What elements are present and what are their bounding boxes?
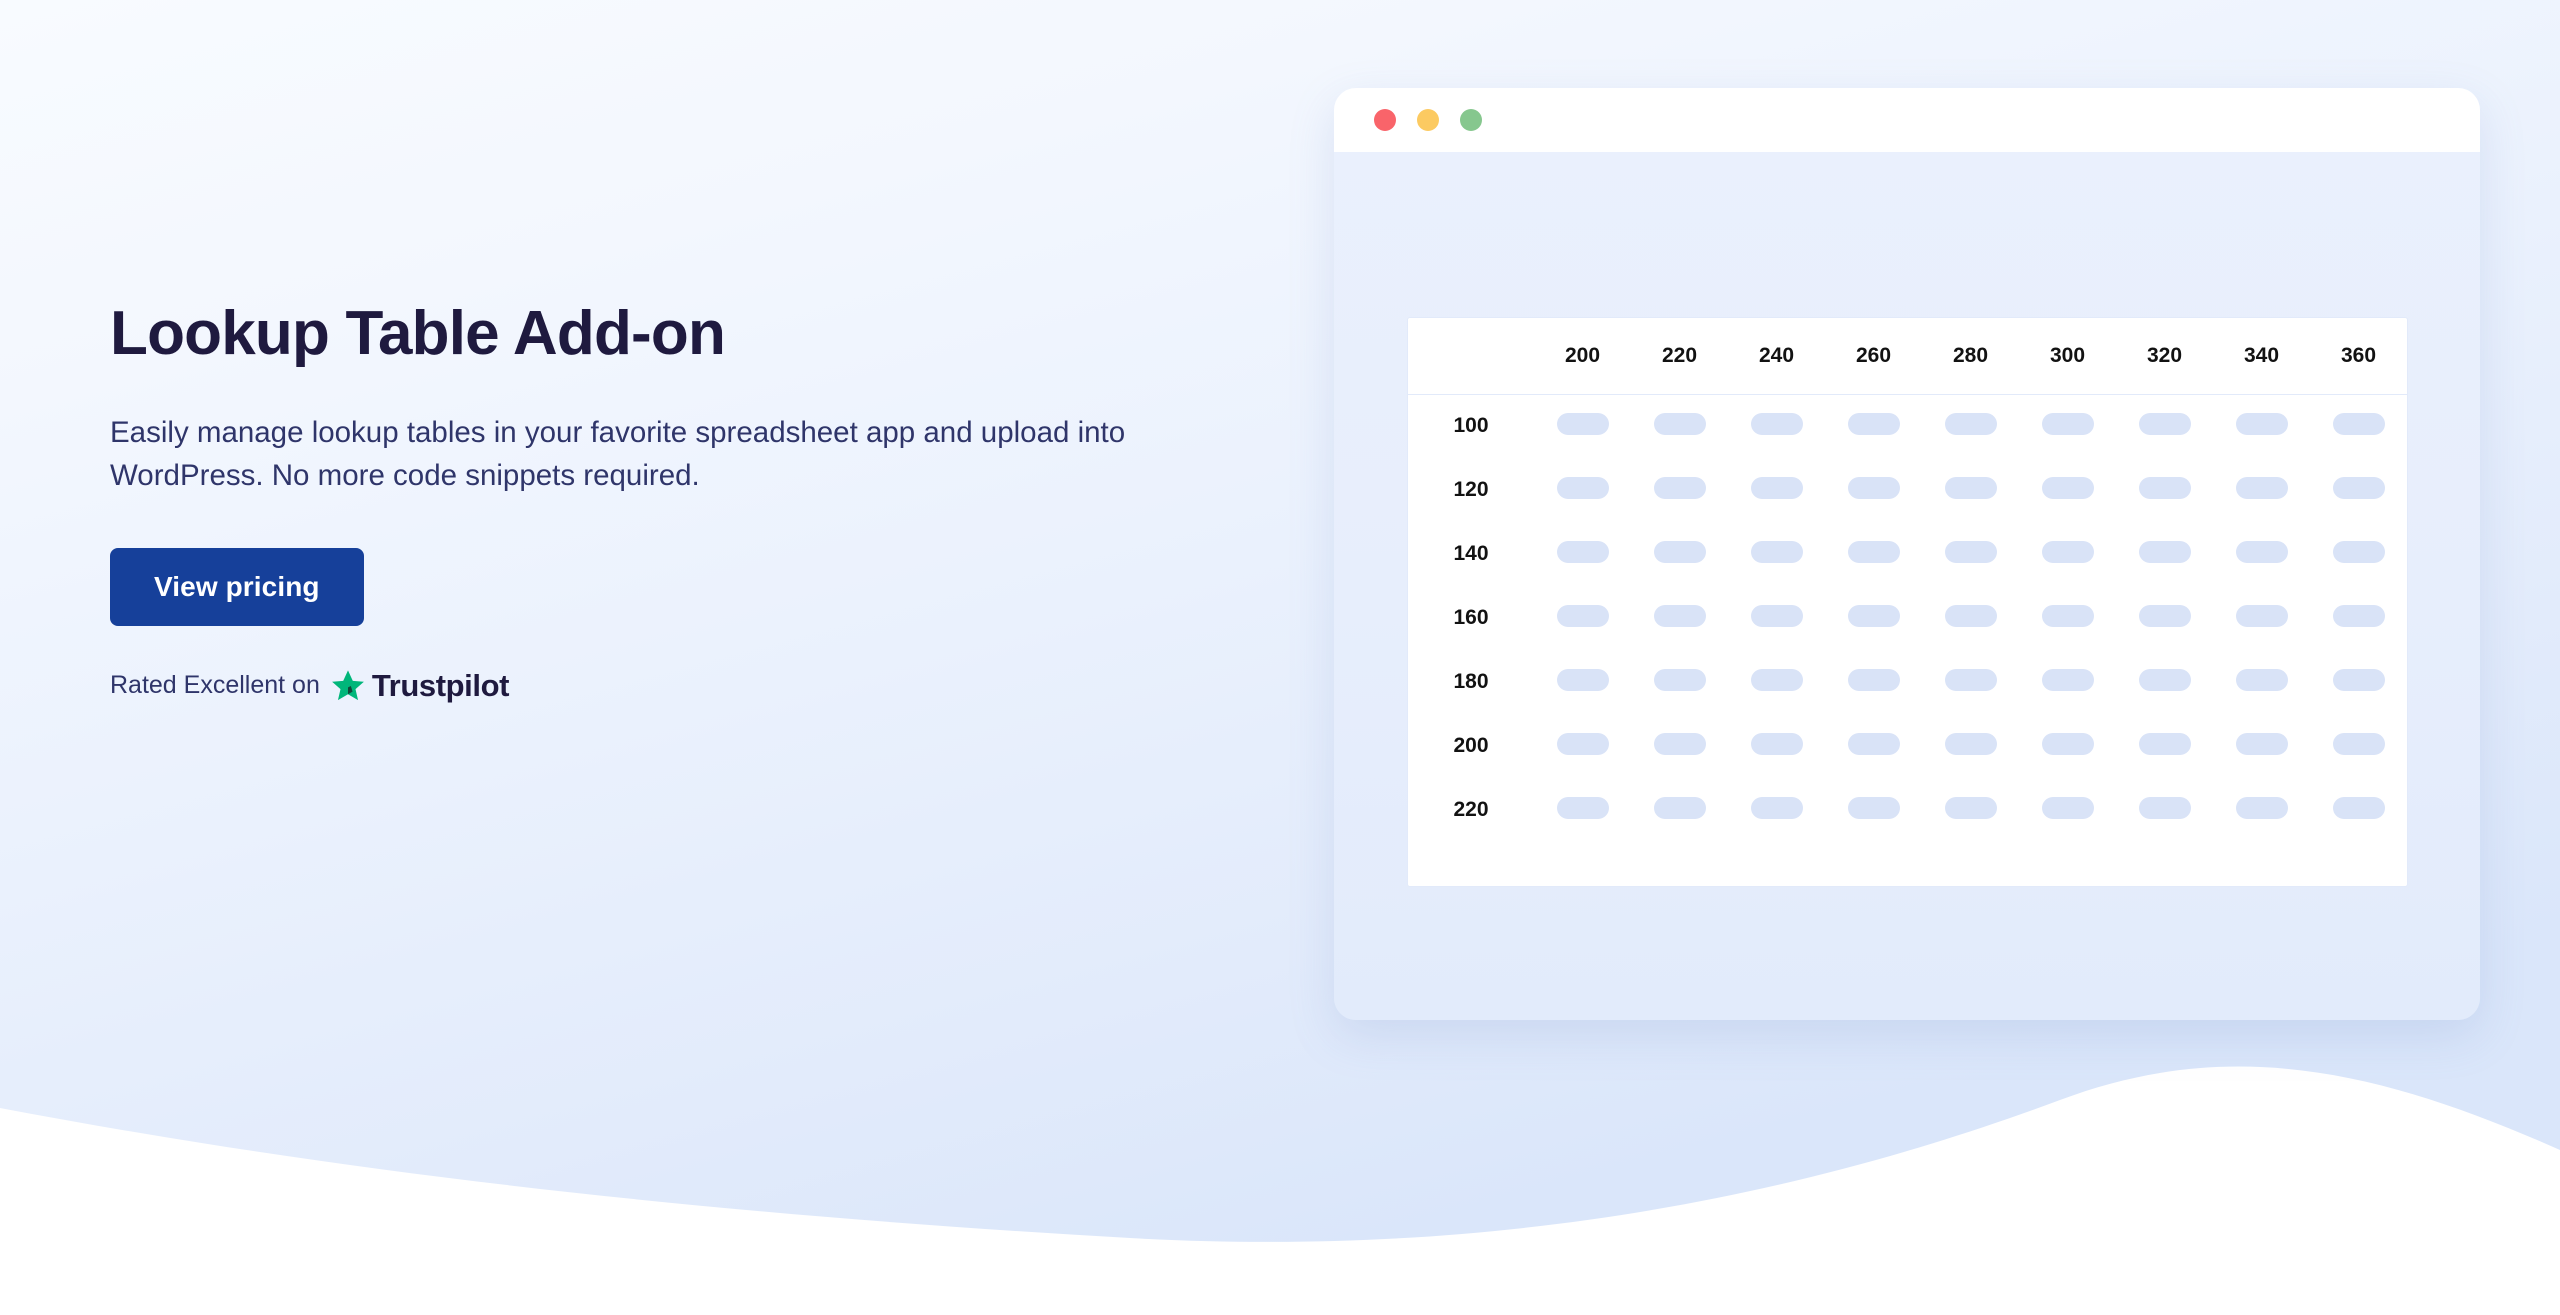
lookup-table-head: 200220240260280300320340360 [1408,318,2407,394]
cell-placeholder-pill [1557,797,1609,819]
table-cell[interactable] [1631,458,1728,522]
table-cell[interactable] [2213,586,2310,650]
cell-placeholder-pill [2139,733,2191,755]
table-cell[interactable] [1631,650,1728,714]
table-cell[interactable] [2116,394,2213,458]
cell-placeholder-pill [1848,669,1900,691]
table-column-header[interactable]: 280 [1922,318,2019,394]
cell-placeholder-pill [2042,669,2094,691]
table-row-header[interactable]: 200 [1408,714,1534,778]
table-cell[interactable] [1825,458,1922,522]
table-cell[interactable] [2310,522,2407,586]
table-column-header[interactable]: 360 [2310,318,2407,394]
view-pricing-button[interactable]: View pricing [110,548,364,626]
table-cell[interactable] [2019,458,2116,522]
cell-placeholder-pill [2042,413,2094,435]
cell-placeholder-pill [1654,477,1706,499]
table-cell[interactable] [2019,714,2116,778]
table-cell[interactable] [2213,714,2310,778]
cell-placeholder-pill [1557,477,1609,499]
table-cell[interactable] [2116,650,2213,714]
table-cell[interactable] [2310,394,2407,458]
table-row-header[interactable]: 100 [1408,394,1534,458]
table-column-header[interactable]: 240 [1728,318,1825,394]
table-row: 200 [1408,714,2407,778]
cell-placeholder-pill [2333,541,2385,563]
cell-placeholder-pill [1557,541,1609,563]
cell-placeholder-pill [2333,413,2385,435]
table-cell[interactable] [1534,586,1631,650]
table-cell[interactable] [2310,586,2407,650]
table-row: 180 [1408,650,2407,714]
table-cell[interactable] [1631,394,1728,458]
table-cell[interactable] [2310,778,2407,842]
cell-placeholder-pill [1654,733,1706,755]
cell-placeholder-pill [2333,605,2385,627]
table-column-header[interactable]: 260 [1825,318,1922,394]
table-cell[interactable] [1631,586,1728,650]
cell-placeholder-pill [1751,669,1803,691]
table-cell[interactable] [1534,458,1631,522]
lookup-table: 200220240260280300320340360 100120140160… [1408,318,2407,842]
table-cell[interactable] [1728,650,1825,714]
table-cell[interactable] [2019,522,2116,586]
table-row: 100 [1408,394,2407,458]
table-cell[interactable] [2310,458,2407,522]
table-row: 120 [1408,458,2407,522]
cell-placeholder-pill [1945,797,1997,819]
cell-placeholder-pill [2042,733,2094,755]
cell-placeholder-pill [1751,477,1803,499]
hero-subtitle: Easily manage lookup tables in your favo… [110,412,1210,498]
table-cell[interactable] [1922,586,2019,650]
cell-placeholder-pill [1945,541,1997,563]
cell-placeholder-pill [2139,477,2191,499]
cell-placeholder-pill [2139,413,2191,435]
cell-placeholder-pill [2236,669,2288,691]
cell-placeholder-pill [2139,541,2191,563]
cell-placeholder-pill [2236,477,2288,499]
table-cell[interactable] [2213,778,2310,842]
cell-placeholder-pill [1848,797,1900,819]
cell-placeholder-pill [2333,669,2385,691]
table-cell[interactable] [1825,778,1922,842]
table-cell[interactable] [1825,394,1922,458]
table-cell[interactable] [1922,458,2019,522]
cell-placeholder-pill [1654,413,1706,435]
cell-placeholder-pill [2042,477,2094,499]
table-row-header[interactable]: 140 [1408,522,1534,586]
table-cell[interactable] [2310,714,2407,778]
table-row: 160 [1408,586,2407,650]
cell-placeholder-pill [2139,797,2191,819]
table-cell[interactable] [2310,650,2407,714]
table-cell[interactable] [1728,458,1825,522]
cell-placeholder-pill [2333,797,2385,819]
table-column-header[interactable]: 220 [1631,318,1728,394]
cell-placeholder-pill [1848,541,1900,563]
page-title: Lookup Table Add-on [110,300,1230,368]
table-cell[interactable] [1728,714,1825,778]
table-row: 140 [1408,522,2407,586]
table-cell[interactable] [1534,650,1631,714]
table-row: 220 [1408,778,2407,842]
cell-placeholder-pill [1751,541,1803,563]
cell-placeholder-pill [1945,669,1997,691]
close-dot-icon[interactable] [1374,109,1396,131]
cell-placeholder-pill [2236,733,2288,755]
table-cell[interactable] [1825,522,1922,586]
table-cell[interactable] [1728,778,1825,842]
table-cell[interactable] [1631,522,1728,586]
cell-placeholder-pill [2042,797,2094,819]
cell-placeholder-pill [2139,669,2191,691]
table-cell[interactable] [1922,394,2019,458]
cell-placeholder-pill [1557,733,1609,755]
cell-placeholder-pill [1848,413,1900,435]
cell-placeholder-pill [1654,669,1706,691]
table-cell[interactable] [2019,394,2116,458]
cell-placeholder-pill [2236,541,2288,563]
maximize-dot-icon[interactable] [1460,109,1482,131]
table-cell[interactable] [2213,458,2310,522]
cell-placeholder-pill [1945,477,1997,499]
cell-placeholder-pill [1945,605,1997,627]
table-cell[interactable] [1728,586,1825,650]
table-cell[interactable] [1534,778,1631,842]
table-cell[interactable] [1922,714,2019,778]
cell-placeholder-pill [2236,413,2288,435]
table-cell[interactable] [2213,650,2310,714]
cell-placeholder-pill [1654,797,1706,819]
cell-placeholder-pill [1945,733,1997,755]
minimize-dot-icon[interactable] [1417,109,1439,131]
cell-placeholder-pill [1848,477,1900,499]
trustpilot-logo[interactable]: Trustpilot [330,668,509,704]
table-cell[interactable] [1922,778,2019,842]
cell-placeholder-pill [2333,477,2385,499]
cell-placeholder-pill [2333,733,2385,755]
cell-placeholder-pill [2042,605,2094,627]
table-cell[interactable] [1922,522,2019,586]
table-row-header[interactable]: 120 [1408,458,1534,522]
cell-placeholder-pill [1557,669,1609,691]
table-cell[interactable] [1825,586,1922,650]
cell-placeholder-pill [1751,733,1803,755]
table-cell[interactable] [2116,778,2213,842]
cell-placeholder-pill [1557,413,1609,435]
cell-placeholder-pill [1848,605,1900,627]
table-cell[interactable] [2019,778,2116,842]
table-cell[interactable] [1631,714,1728,778]
table-cell[interactable] [1825,714,1922,778]
table-cell[interactable] [2213,522,2310,586]
table-cell[interactable] [1534,714,1631,778]
cell-placeholder-pill [1751,413,1803,435]
cell-placeholder-pill [1654,541,1706,563]
cell-placeholder-pill [2236,605,2288,627]
cell-placeholder-pill [2139,605,2191,627]
table-cell[interactable] [2116,586,2213,650]
table-corner-cell [1408,318,1534,394]
table-cell[interactable] [1728,394,1825,458]
table-cell[interactable] [2116,458,2213,522]
table-column-header[interactable]: 320 [2116,318,2213,394]
browser-mockup: 200220240260280300320340360 100120140160… [1334,88,2480,1020]
table-cell[interactable] [1534,394,1631,458]
table-cell[interactable] [1825,650,1922,714]
trustpilot-rating[interactable]: Rated Excellent on Trustpilot [110,668,1230,704]
rating-label: Rated Excellent on [110,671,320,700]
cell-placeholder-pill [2236,797,2288,819]
cell-placeholder-pill [1654,605,1706,627]
table-cell[interactable] [2019,650,2116,714]
hero-content: Lookup Table Add-on Easily manage lookup… [110,300,1230,704]
cell-placeholder-pill [2042,541,2094,563]
table-row-header[interactable]: 160 [1408,586,1534,650]
cell-placeholder-pill [1751,797,1803,819]
table-header-row: 200220240260280300320340360 [1408,318,2407,394]
table-column-header[interactable]: 200 [1534,318,1631,394]
table-cell[interactable] [1631,778,1728,842]
table-cell[interactable] [2213,394,2310,458]
table-row-header[interactable]: 180 [1408,650,1534,714]
table-cell[interactable] [1728,522,1825,586]
table-cell[interactable] [2116,714,2213,778]
hero-page: Lookup Table Add-on Easily manage lookup… [0,0,2560,1315]
table-row-header[interactable]: 220 [1408,778,1534,842]
trustpilot-wordmark: Trustpilot [372,668,509,704]
table-cell[interactable] [1922,650,2019,714]
table-column-header[interactable]: 340 [2213,318,2310,394]
table-cell[interactable] [2116,522,2213,586]
lookup-table-card: 200220240260280300320340360 100120140160… [1407,317,2408,887]
cell-placeholder-pill [1751,605,1803,627]
cell-placeholder-pill [1945,413,1997,435]
browser-titlebar [1334,88,2480,152]
table-cell[interactable] [2019,586,2116,650]
table-cell[interactable] [1534,522,1631,586]
table-column-header[interactable]: 300 [2019,318,2116,394]
cell-placeholder-pill [1557,605,1609,627]
trustpilot-star-icon [330,668,366,704]
cell-placeholder-pill [1848,733,1900,755]
lookup-table-body: 100120140160180200220 [1408,394,2407,842]
